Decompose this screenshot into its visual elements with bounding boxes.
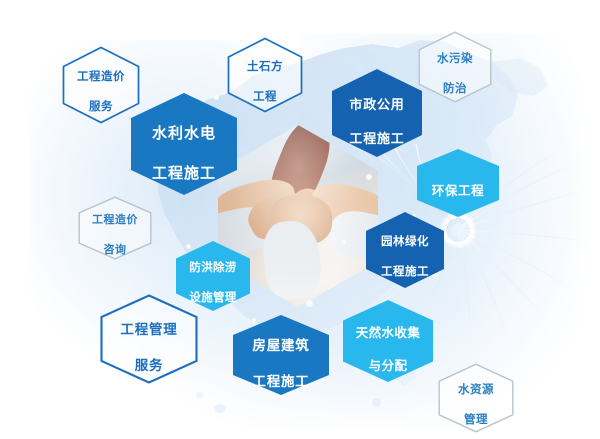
hex-label-line1: 市政公用 [349,97,404,112]
infographic-canvas: 工程造价 服务 土石方 工程 水利水电 工程施工 [0,0,600,439]
right-edge-fade [570,0,600,439]
hex-label-line2: 与分配 [369,359,408,373]
hex-label-line1: 水污染 [437,53,473,65]
hex-engineering-cost-service[interactable]: 工程造价 服务 [62,46,140,124]
top-edge-fade [0,0,600,34]
hex-label-line2: 工程施工 [252,374,309,389]
hex-environmental-protection-engineering[interactable]: 环保工程 [417,149,499,217]
hex-label-line2: 管理 [464,414,488,426]
hex-label-line1: 水资源 [458,384,494,396]
hex-landscaping-construction[interactable]: 园林绿化 工程施工 [366,212,444,288]
hex-label-line1: 工程造价 [77,71,125,83]
hex-label-line1: 环保工程 [432,184,484,198]
hex-label-line1: 园林绿化 [381,236,429,248]
hex-earthwork-engineering[interactable]: 土石方 工程 [227,37,303,113]
hex-label-line2: 咨询 [104,244,127,256]
hex-water-conservancy-hydropower-construction[interactable]: 水利水电 工程施工 [131,93,237,195]
hex-label-line2: 工程 [253,91,277,103]
hex-label-line2: 工程施工 [349,131,404,146]
left-edge-fade [0,0,38,439]
hex-natural-water-collection-distribution[interactable]: 天然水收集 与分配 [343,300,433,382]
hex-water-pollution-control[interactable]: 水污染 防治 [418,31,492,103]
hex-municipal-public-works-construction[interactable]: 市政公用 工程施工 [332,69,422,157]
hex-label-line1: 土石方 [247,61,283,73]
hex-label-line1: 防洪除涝 [189,262,236,274]
hex-label-line1: 水利水电 [152,125,216,142]
hex-label-line2: 服务 [135,358,164,373]
hex-label-line1: 天然水收集 [356,326,421,340]
hex-building-construction[interactable]: 房屋建筑 工程施工 [233,315,329,395]
hex-label-line2: 工程施工 [152,165,216,182]
hex-label-line1: 工程管理 [120,322,177,337]
hex-engineering-cost-consulting[interactable]: 工程造价 咨询 [78,196,152,260]
hex-label-line2: 工程施工 [381,266,429,278]
hex-label-line1: 房屋建筑 [252,338,309,353]
hex-water-resources-management[interactable]: 水资源 管理 [438,363,514,433]
hex-label-line1: 工程造价 [92,214,138,226]
hex-engineering-management-service[interactable]: 工程管理 服务 [100,294,198,384]
hex-label-line2: 设施管理 [189,292,236,304]
hex-label-line2: 防治 [443,83,467,95]
hex-label-line2: 服务 [89,101,113,113]
